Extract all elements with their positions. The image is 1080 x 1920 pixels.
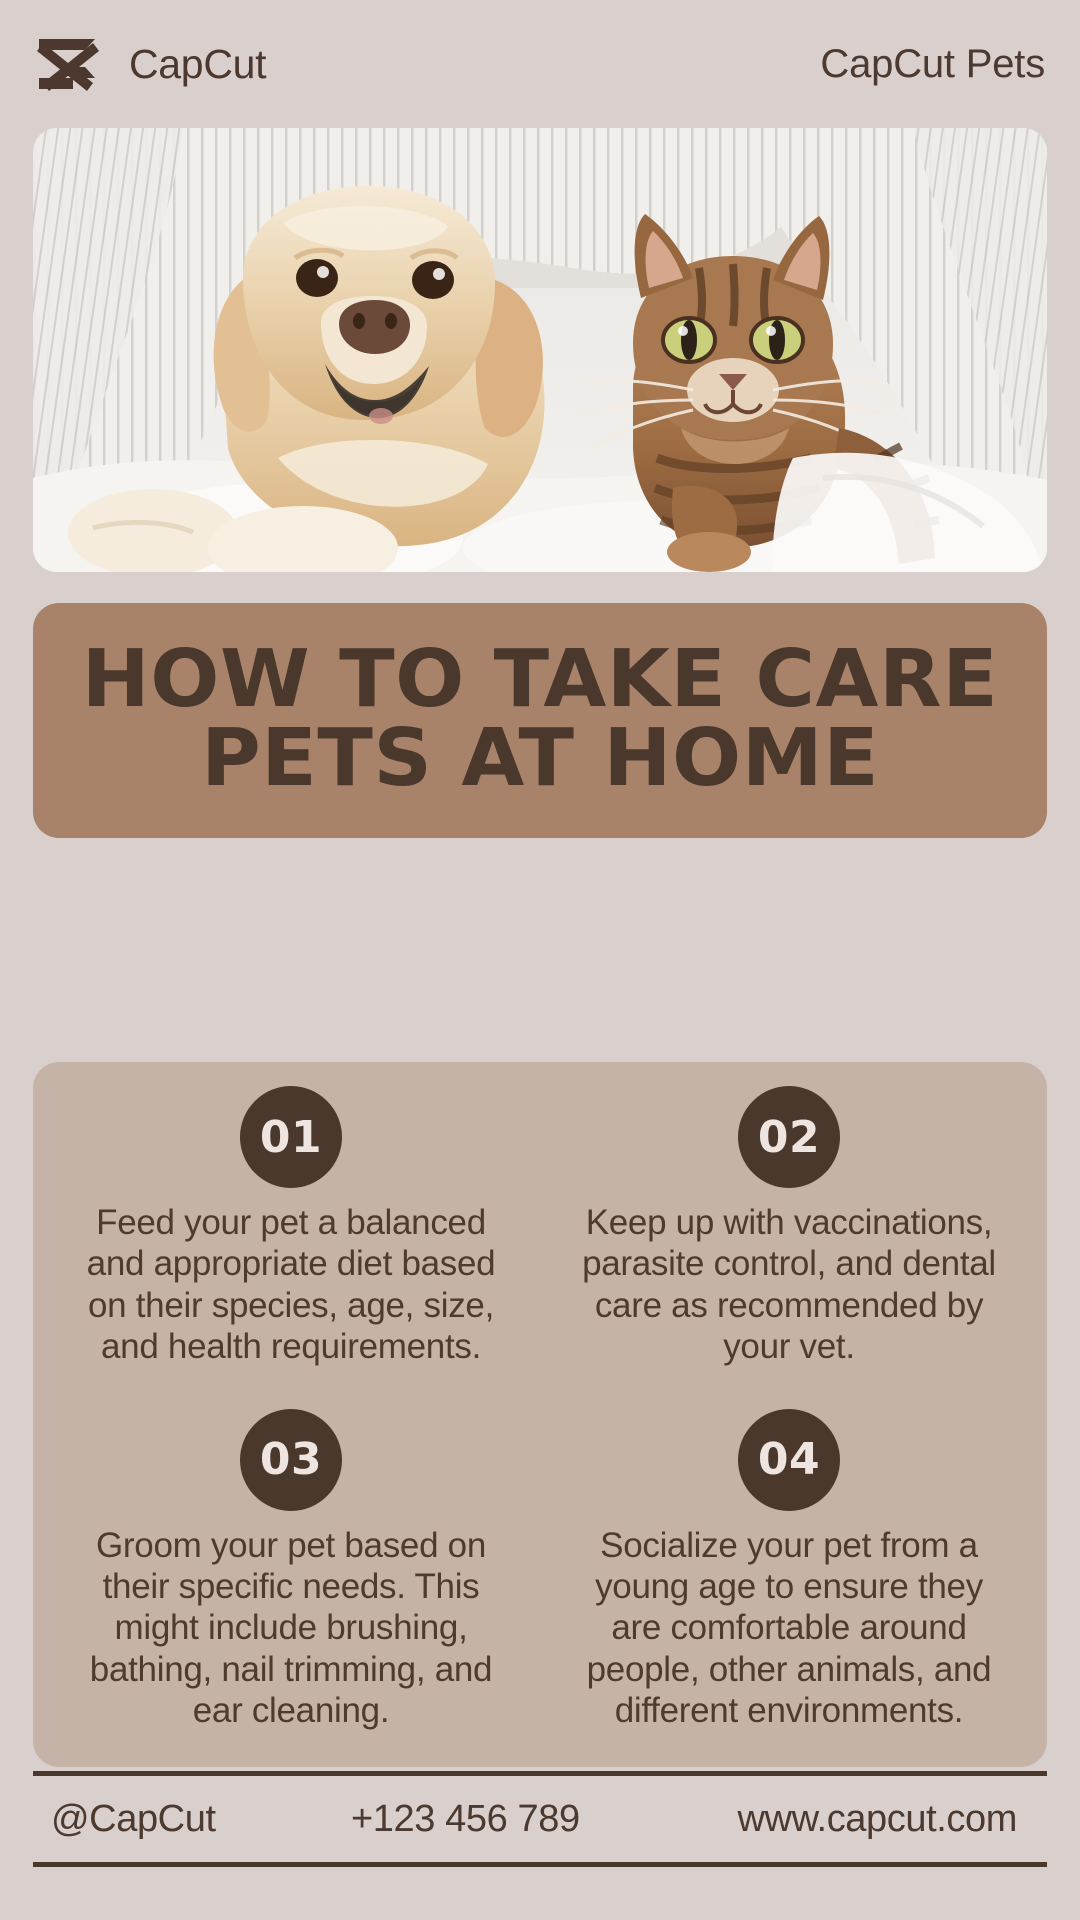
phone-number[interactable]: +123 456 789 bbox=[351, 1798, 681, 1841]
step-04: 04 Socialize your pet from a young age t… bbox=[549, 1409, 1029, 1749]
capcut-logo-icon bbox=[35, 33, 111, 95]
step-02: 02 Keep up with vaccinations, parasite c… bbox=[549, 1086, 1029, 1385]
brand-name: CapCut bbox=[129, 44, 266, 85]
brand: CapCut bbox=[35, 33, 266, 95]
step-03: 03 Groom your pet based on their specifi… bbox=[51, 1409, 531, 1749]
title-banner: HOW TO TAKE CARE PETS AT HOME bbox=[33, 603, 1047, 838]
page-title-line-2: PETS AT HOME bbox=[201, 719, 879, 797]
footer-divider-bottom bbox=[33, 1862, 1047, 1867]
footer: @CapCut +123 456 789 www.capcut.com bbox=[33, 1776, 1047, 1862]
header-right-label: CapCut Pets bbox=[820, 44, 1045, 84]
page-title-line-1: HOW TO TAKE CARE bbox=[82, 640, 999, 718]
hero-photo bbox=[33, 128, 1047, 572]
infographic-page: CapCut CapCut Pets bbox=[0, 0, 1080, 1920]
steps-card: 01 Feed your pet a balanced and appropri… bbox=[33, 1062, 1047, 1767]
step-number-badge: 04 bbox=[738, 1409, 840, 1511]
header: CapCut CapCut Pets bbox=[0, 0, 1080, 128]
step-number-badge: 03 bbox=[240, 1409, 342, 1511]
steps-grid: 01 Feed your pet a balanced and appropri… bbox=[51, 1086, 1029, 1749]
social-handle[interactable]: @CapCut bbox=[51, 1798, 351, 1841]
step-number-badge: 01 bbox=[240, 1086, 342, 1188]
step-description: Keep up with vaccinations, parasite cont… bbox=[574, 1202, 1004, 1367]
step-01: 01 Feed your pet a balanced and appropri… bbox=[51, 1086, 531, 1385]
step-description: Socialize your pet from a young age to e… bbox=[574, 1525, 1004, 1731]
step-description: Groom your pet based on their specific n… bbox=[76, 1525, 506, 1731]
step-number-badge: 02 bbox=[738, 1086, 840, 1188]
website-url[interactable]: www.capcut.com bbox=[681, 1798, 1029, 1841]
step-description: Feed your pet a balanced and appropriate… bbox=[76, 1202, 506, 1367]
